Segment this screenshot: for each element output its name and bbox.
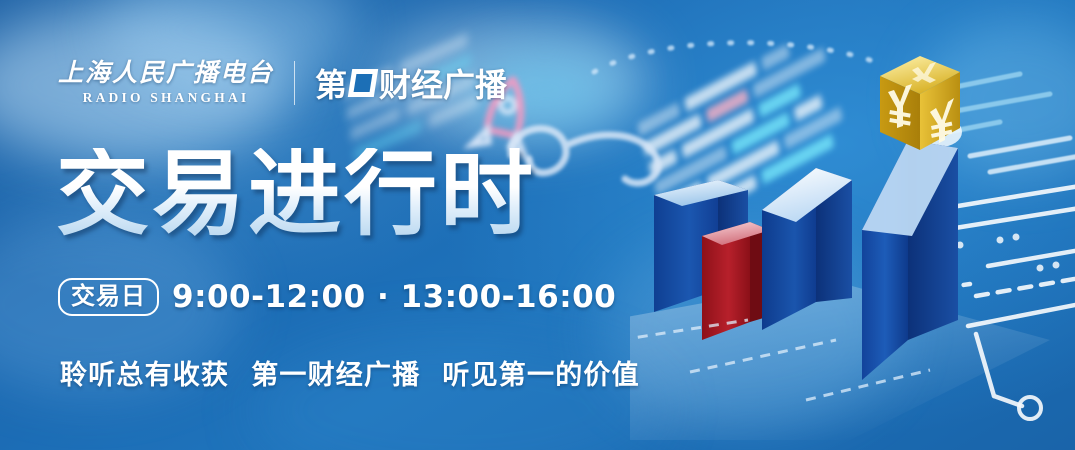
yen-cube-icon	[880, 56, 960, 150]
logo-row: 上海人民广播电台 RADIO SHANGHAI 第 财经广播	[58, 60, 507, 106]
page-title: 交易进行时	[56, 148, 536, 241]
bar-chart-3d	[630, 40, 1050, 440]
station-logo-chinese: 上海人民广播电台	[58, 60, 274, 86]
tagline: 聆听总有收获 第一财经广播 听见第一的价值	[60, 353, 640, 392]
tagline-part-3: 听见第一的价值	[442, 353, 639, 392]
station-logo[interactable]: 上海人民广播电台 RADIO SHANGHAI	[58, 60, 274, 105]
schedule-row: 交易日 9:00-12:00 · 13:00-16:00	[58, 278, 616, 316]
tagline-part-1: 聆听总有收获	[60, 353, 229, 392]
broadcast-hours: 9:00-12:00 · 13:00-16:00	[172, 279, 616, 315]
radio-program-banner: 上海人民广播电台 RADIO SHANGHAI 第 财经广播 交易进行时 交易日…	[0, 0, 1075, 450]
channel-logo-prefix: 第	[315, 60, 347, 106]
channel-logo[interactable]: 第 财经广播	[315, 60, 507, 106]
station-logo-english: RADIO SHANGHAI	[58, 90, 274, 106]
channel-logo-suffix: 财经广播	[379, 60, 507, 106]
tagline-part-2: 第一财经广播	[251, 353, 420, 392]
trading-day-badge: 交易日	[58, 278, 159, 316]
logo-divider	[294, 61, 295, 105]
one-mark-icon	[348, 69, 378, 97]
